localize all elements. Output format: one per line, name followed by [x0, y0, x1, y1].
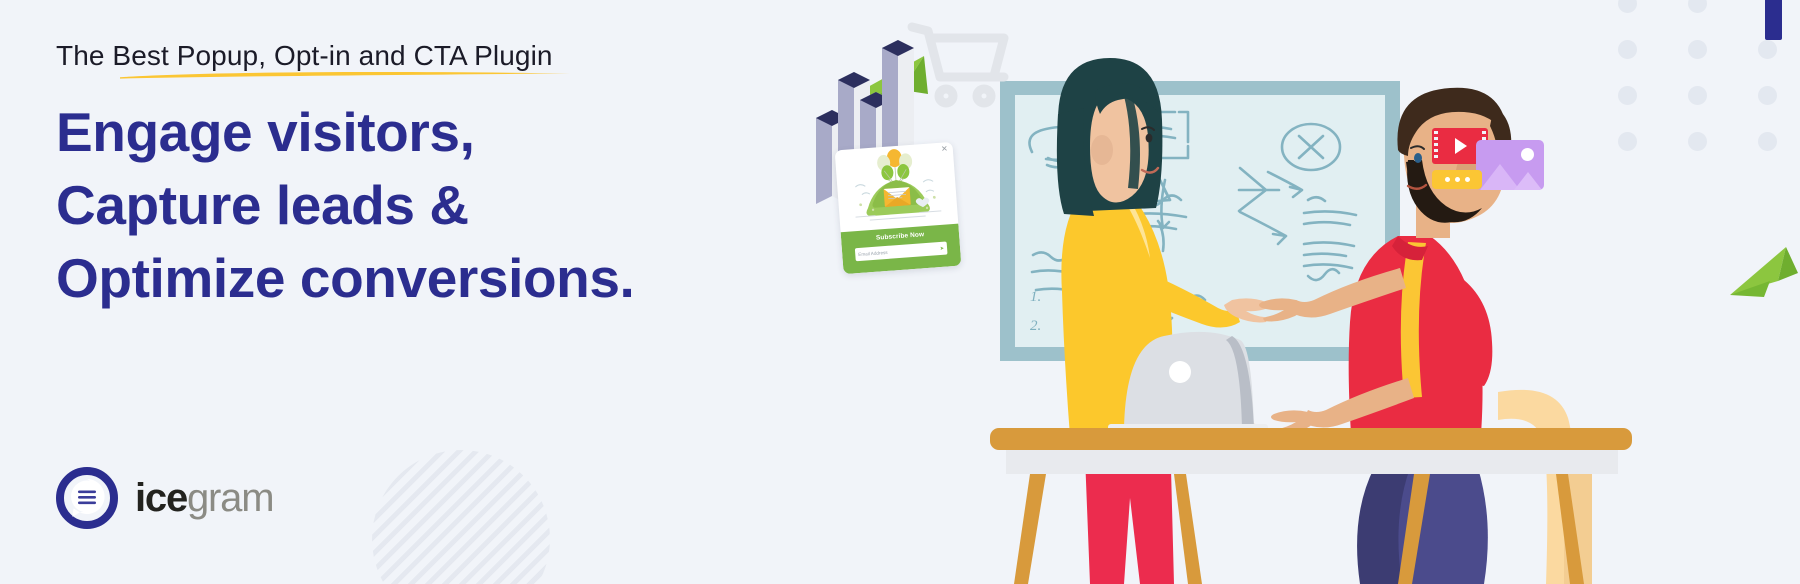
email-placeholder: Email Address — [858, 250, 888, 257]
speech-bubble-lines-icon — [56, 467, 118, 529]
email-field[interactable]: Email Address ➤ — [855, 242, 948, 262]
paper-plane-icon[interactable]: ➤ — [940, 245, 945, 251]
popup-illustration — [835, 142, 958, 228]
subscribe-popup-card[interactable]: ✕ — [835, 142, 962, 274]
logo-wordmark: icegram — [135, 478, 273, 518]
tagline: The Best Popup, Opt-in and CTA Plugin — [56, 40, 553, 72]
logo-word-light: gram — [187, 476, 273, 520]
brush-underline-icon — [118, 70, 573, 79]
paper-plane-icon — [1730, 247, 1798, 297]
headline-line-2: Capture leads & — [56, 169, 816, 242]
hero-copy: The Best Popup, Opt-in and CTA Plugin En… — [56, 40, 816, 315]
whiteboard-list-marker-2: 2. — [1030, 318, 1041, 334]
media-icon-cluster — [1432, 128, 1552, 190]
page-title: Engage visitors, Capture leads & Optimiz… — [56, 96, 816, 315]
office-scene: 1. 2. — [808, 0, 1800, 584]
hatched-circle-decor — [372, 450, 550, 584]
hero-banner: The Best Popup, Opt-in and CTA Plugin En… — [0, 0, 1800, 584]
headline-line-3: Optimize conversions. — [56, 242, 816, 315]
hero-illustration: 1. 2. — [808, 0, 1800, 584]
headline-line-1: Engage visitors, — [56, 96, 816, 169]
icegram-logo[interactable]: icegram — [56, 467, 273, 529]
dots-pill-icon — [1432, 170, 1482, 189]
whiteboard-list-marker-1: 1. — [1030, 289, 1041, 305]
tagline-text: The Best Popup, Opt-in and CTA Plugin — [56, 40, 553, 71]
logo-word-bold: ice — [135, 476, 187, 520]
image-photo-icon — [1476, 140, 1544, 190]
popup-footer: Subscribe Now Email Address ➤ — [841, 224, 962, 275]
